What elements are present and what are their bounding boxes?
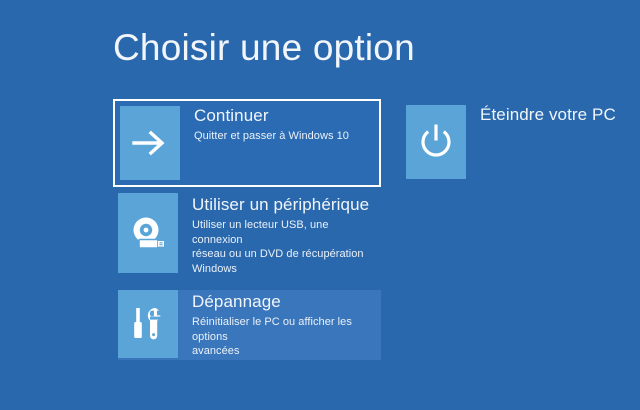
disc-usb-device-icon	[118, 193, 178, 273]
arrow-right-icon	[120, 106, 180, 180]
option-use-a-device-description: Utiliser un lecteur USB, une connexion r…	[192, 218, 381, 276]
option-troubleshoot-text: Dépannage Réinitialiser le PC ou affiche…	[178, 290, 381, 359]
screwdriver-wrench-icon	[118, 290, 178, 358]
option-use-a-device-title: Utiliser un périphérique	[192, 195, 381, 215]
option-use-a-device[interactable]: Utiliser un périphérique Utiliser un lec…	[118, 193, 381, 277]
page-title: Choisir une option	[113, 26, 415, 70]
option-continue-text: Continuer Quitter et passer à Windows 10	[180, 106, 374, 144]
option-troubleshoot-description: Réinitialiser le PC ou afficher les opti…	[192, 315, 381, 359]
option-turn-off-pc-title: Éteindre votre PC	[480, 105, 631, 125]
option-use-a-device-text: Utiliser un périphérique Utiliser un lec…	[178, 193, 381, 276]
option-continue-title: Continuer	[194, 106, 374, 126]
option-troubleshoot[interactable]: Dépannage Réinitialiser le PC ou affiche…	[118, 290, 381, 360]
power-icon	[406, 105, 466, 179]
option-troubleshoot-title: Dépannage	[192, 292, 381, 312]
option-turn-off-pc-text: Éteindre votre PC	[466, 105, 631, 125]
option-turn-off-pc[interactable]: Éteindre votre PC	[406, 105, 631, 183]
recovery-options-screen: Choisir une option Continuer Quitter et …	[0, 0, 640, 410]
option-continue-description: Quitter et passer à Windows 10	[194, 129, 374, 144]
option-continue[interactable]: Continuer Quitter et passer à Windows 10	[113, 99, 381, 187]
